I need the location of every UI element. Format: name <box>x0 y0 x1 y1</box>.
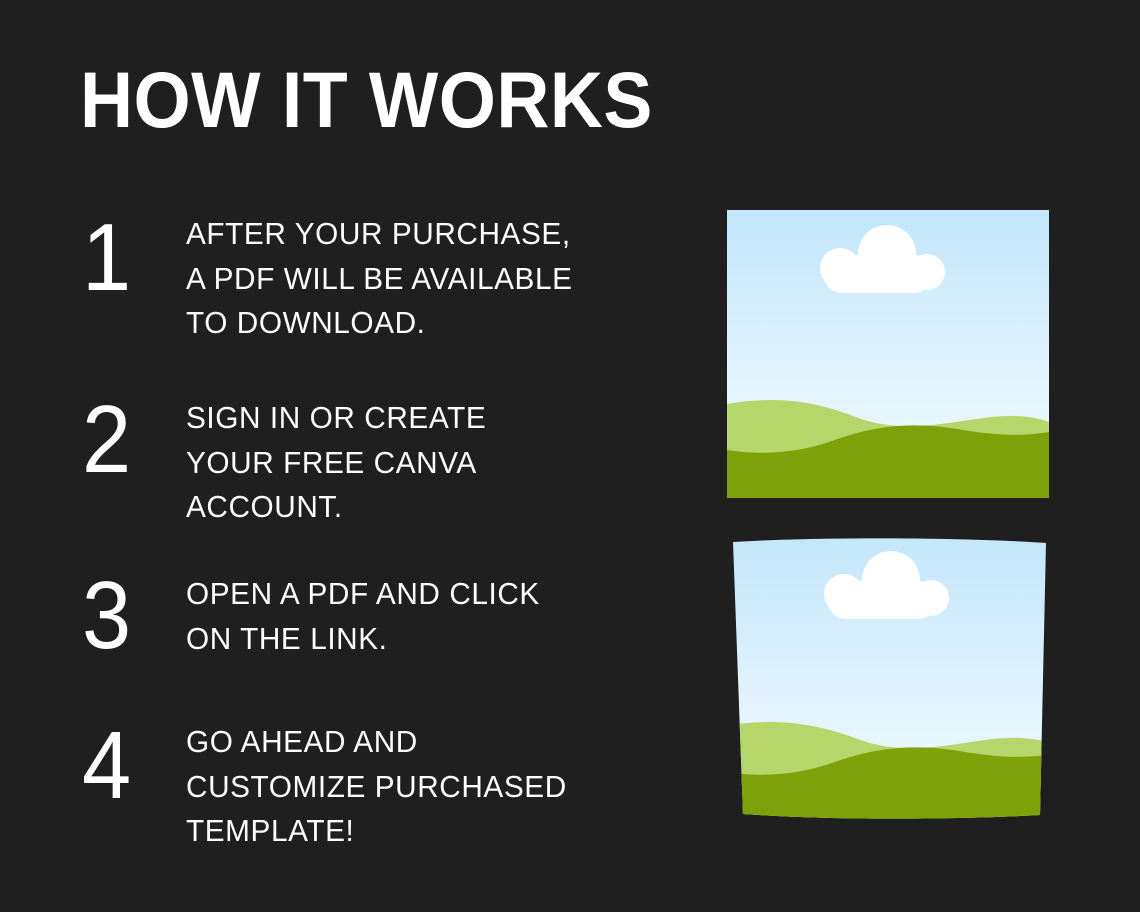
step-text: GO AHEAD AND CUSTOMIZE PURCHASED TEMPLAT… <box>186 720 589 854</box>
step-text: AFTER YOUR PURCHASE, A PDF WILL BE AVAIL… <box>186 212 589 346</box>
step-number: 1 <box>82 210 161 306</box>
landscape-image-top <box>727 210 1049 498</box>
step-number: 4 <box>82 718 161 814</box>
page-title: HOW IT WORKS <box>80 57 653 143</box>
step-text: SIGN IN OR CREATE YOUR FREE CANVA ACCOUN… <box>186 396 589 530</box>
landscape-image-bottom <box>731 536 1048 820</box>
step-text: OPEN A PDF AND CLICK ON THE LINK. <box>186 572 589 661</box>
step-number: 3 <box>82 568 161 664</box>
step-number: 2 <box>82 392 161 488</box>
slide-canvas: HOW IT WORKS 1 AFTER YOUR PURCHASE, A PD… <box>0 0 1140 912</box>
